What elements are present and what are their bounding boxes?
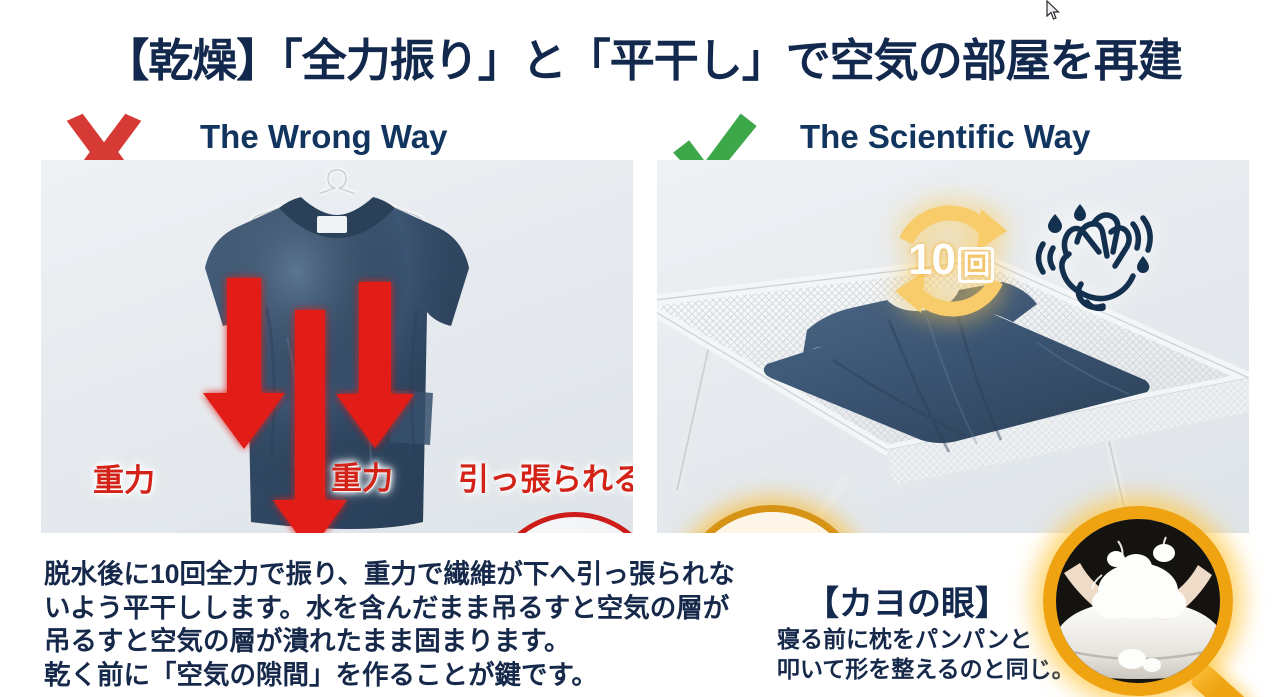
page-title: 【乾燥】「全力振り」と「平干し」で空気の部屋を再建 [0, 24, 1286, 89]
shaking-hands-with-droplets-icon [1025, 198, 1155, 318]
caption-line-3: 吊るすと空気の層が潰れたまま固まります。 [44, 625, 744, 659]
panel-heading-scientific: The Scientific Way [800, 118, 1090, 156]
caption-block: 脱水後に10回全力で振り、重力で繊維が下へ引っ張られな いよう平干しします。水を… [44, 558, 744, 693]
repeat-10-times-badge: 10回 [885, 195, 1017, 327]
slide-root: 【乾燥】「全力振り」と「平干し」で空気の部屋を再建 The Wrong Way … [0, 0, 1286, 697]
kayo-body-line-1: 寝る前に枕をパンパンと [777, 624, 1075, 654]
magnifier-lens [1043, 506, 1233, 696]
panel-heading-wrong: The Wrong Way [200, 118, 448, 156]
label-pulled: 引っ張られる [458, 454, 633, 499]
caption-line-4: 乾く前に「空気の隙間」を作ることが鍵です。 [44, 659, 744, 693]
photo-panel-scientific: 10回 [657, 160, 1249, 533]
kayo-eye-body: 寝る前に枕をパンパンと 叩いて形を整えるのと同じ。 [777, 624, 1075, 685]
label-gravity-left: 重力 [93, 455, 155, 500]
label-gravity-center: 重力 [331, 453, 393, 498]
caption-line-1: 脱水後に10回全力で振り、重力で繊維が下へ引っ張られな [44, 558, 744, 592]
mouse-cursor [1046, 0, 1062, 22]
caption-line-2: いよう平干しします。水を含んだまま吊るすと空気の層が [44, 592, 744, 626]
magnifier-pillow-fluff-icon [1035, 500, 1245, 697]
repeat-count: 10回 [885, 235, 1017, 285]
kayo-eye-title: 【カヨの眼】 [805, 576, 1009, 625]
crushed-fiber-diagram [491, 517, 633, 533]
kayo-body-line-2: 叩いて形を整えるのと同じ。 [777, 654, 1075, 684]
photo-panel-wrong: 重力 重力 引っ張られる 繊維が潰れる [41, 160, 633, 533]
